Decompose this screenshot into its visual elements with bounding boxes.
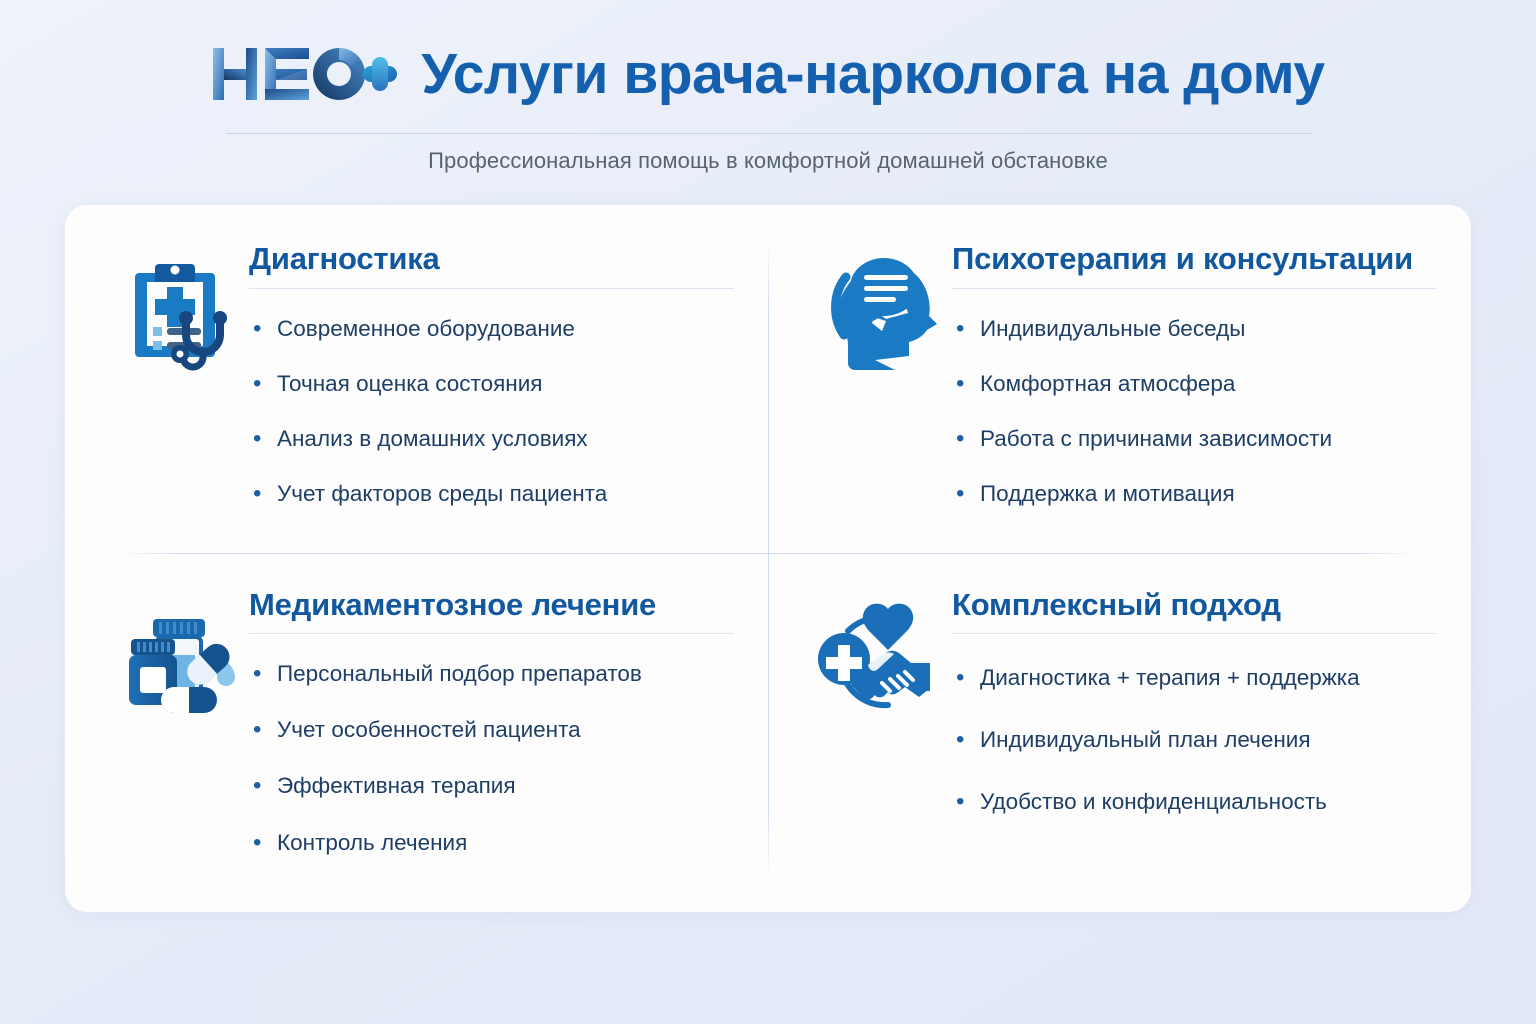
list-item: Анализ в домашних условиях [249, 425, 734, 453]
card-body: Медикаментозное лечение Персональный под… [249, 581, 734, 885]
card-title: Медикаментозное лечение [249, 587, 734, 623]
card-title: Диагностика [249, 241, 734, 277]
list-item: Эффективная терапия [249, 772, 734, 800]
card-bullet-list: Современное оборудование Точная оценка с… [249, 315, 734, 509]
list-item: Удобство и конфиденциальность [952, 788, 1437, 816]
list-item: Комфортная атмосфера [952, 370, 1437, 398]
card-body: Диагностика Современное оборудование Точ… [249, 235, 734, 508]
panel-vertical-divider [768, 237, 769, 880]
neo-plus-logo [211, 38, 399, 110]
list-item: Учет особенностей пациента [249, 716, 734, 744]
panel-horizontal-divider [113, 553, 1423, 554]
service-card-medication[interactable]: Медикаментозное лечение Персональный под… [65, 559, 768, 913]
list-item: Учет факторов среды пациента [249, 480, 734, 508]
card-title-rule [952, 633, 1437, 634]
list-item: Индивидуальные беседы [952, 315, 1437, 343]
service-card-diagnostics[interactable]: Диагностика Современное оборудование Точ… [65, 205, 768, 559]
page-subtitle: Профессиональная помощь в комфортной дом… [0, 148, 1536, 174]
list-item: Персональный подбор препаратов [249, 660, 734, 688]
list-item: Точная оценка состояния [249, 370, 734, 398]
list-item: Индивидуальный план лечения [952, 726, 1437, 754]
card-bullet-list: Индивидуальные беседы Комфортная атмосфе… [952, 315, 1437, 509]
list-item: Работа с причинами зависимости [952, 425, 1437, 453]
page-title: Услуги врача-нарколога на дому [421, 46, 1324, 103]
clipboard-stethoscope-icon [109, 247, 241, 379]
card-body: Психотерапия и консультации Индивидуальн… [952, 235, 1437, 508]
header-divider [226, 133, 1312, 134]
card-title: Комплексный подход [952, 587, 1437, 623]
page-header: Услуги врача-нарколога на дому Профессио… [0, 0, 1536, 196]
card-title-rule [249, 633, 734, 634]
list-item: Диагностика + терапия + поддержка [952, 664, 1437, 692]
card-title-rule [952, 288, 1437, 289]
list-item: Поддержка и мотивация [952, 480, 1437, 508]
service-card-complex-approach[interactable]: Комплексный подход Диагностика + терапия… [768, 559, 1471, 913]
card-body: Комплексный подход Диагностика + терапия… [952, 581, 1437, 851]
handshake-heart-cross-icon [812, 593, 944, 725]
header-row: Услуги врача-нарколога на дому [0, 0, 1536, 118]
card-title-rule [249, 288, 734, 289]
pill-bottles-capsules-icon [109, 593, 241, 725]
list-item: Контроль лечения [249, 829, 734, 857]
card-bullet-list: Диагностика + терапия + поддержка Индиви… [952, 664, 1437, 816]
card-title: Психотерапия и консультации [952, 241, 1437, 277]
list-item: Современное оборудование [249, 315, 734, 343]
services-panel: Диагностика Современное оборудование Точ… [65, 205, 1471, 912]
card-bullet-list: Персональный подбор препаратов Учет особ… [249, 660, 734, 857]
service-card-psychotherapy[interactable]: Психотерапия и консультации Индивидуальн… [768, 205, 1471, 559]
head-speech-bubble-icon [812, 247, 944, 379]
